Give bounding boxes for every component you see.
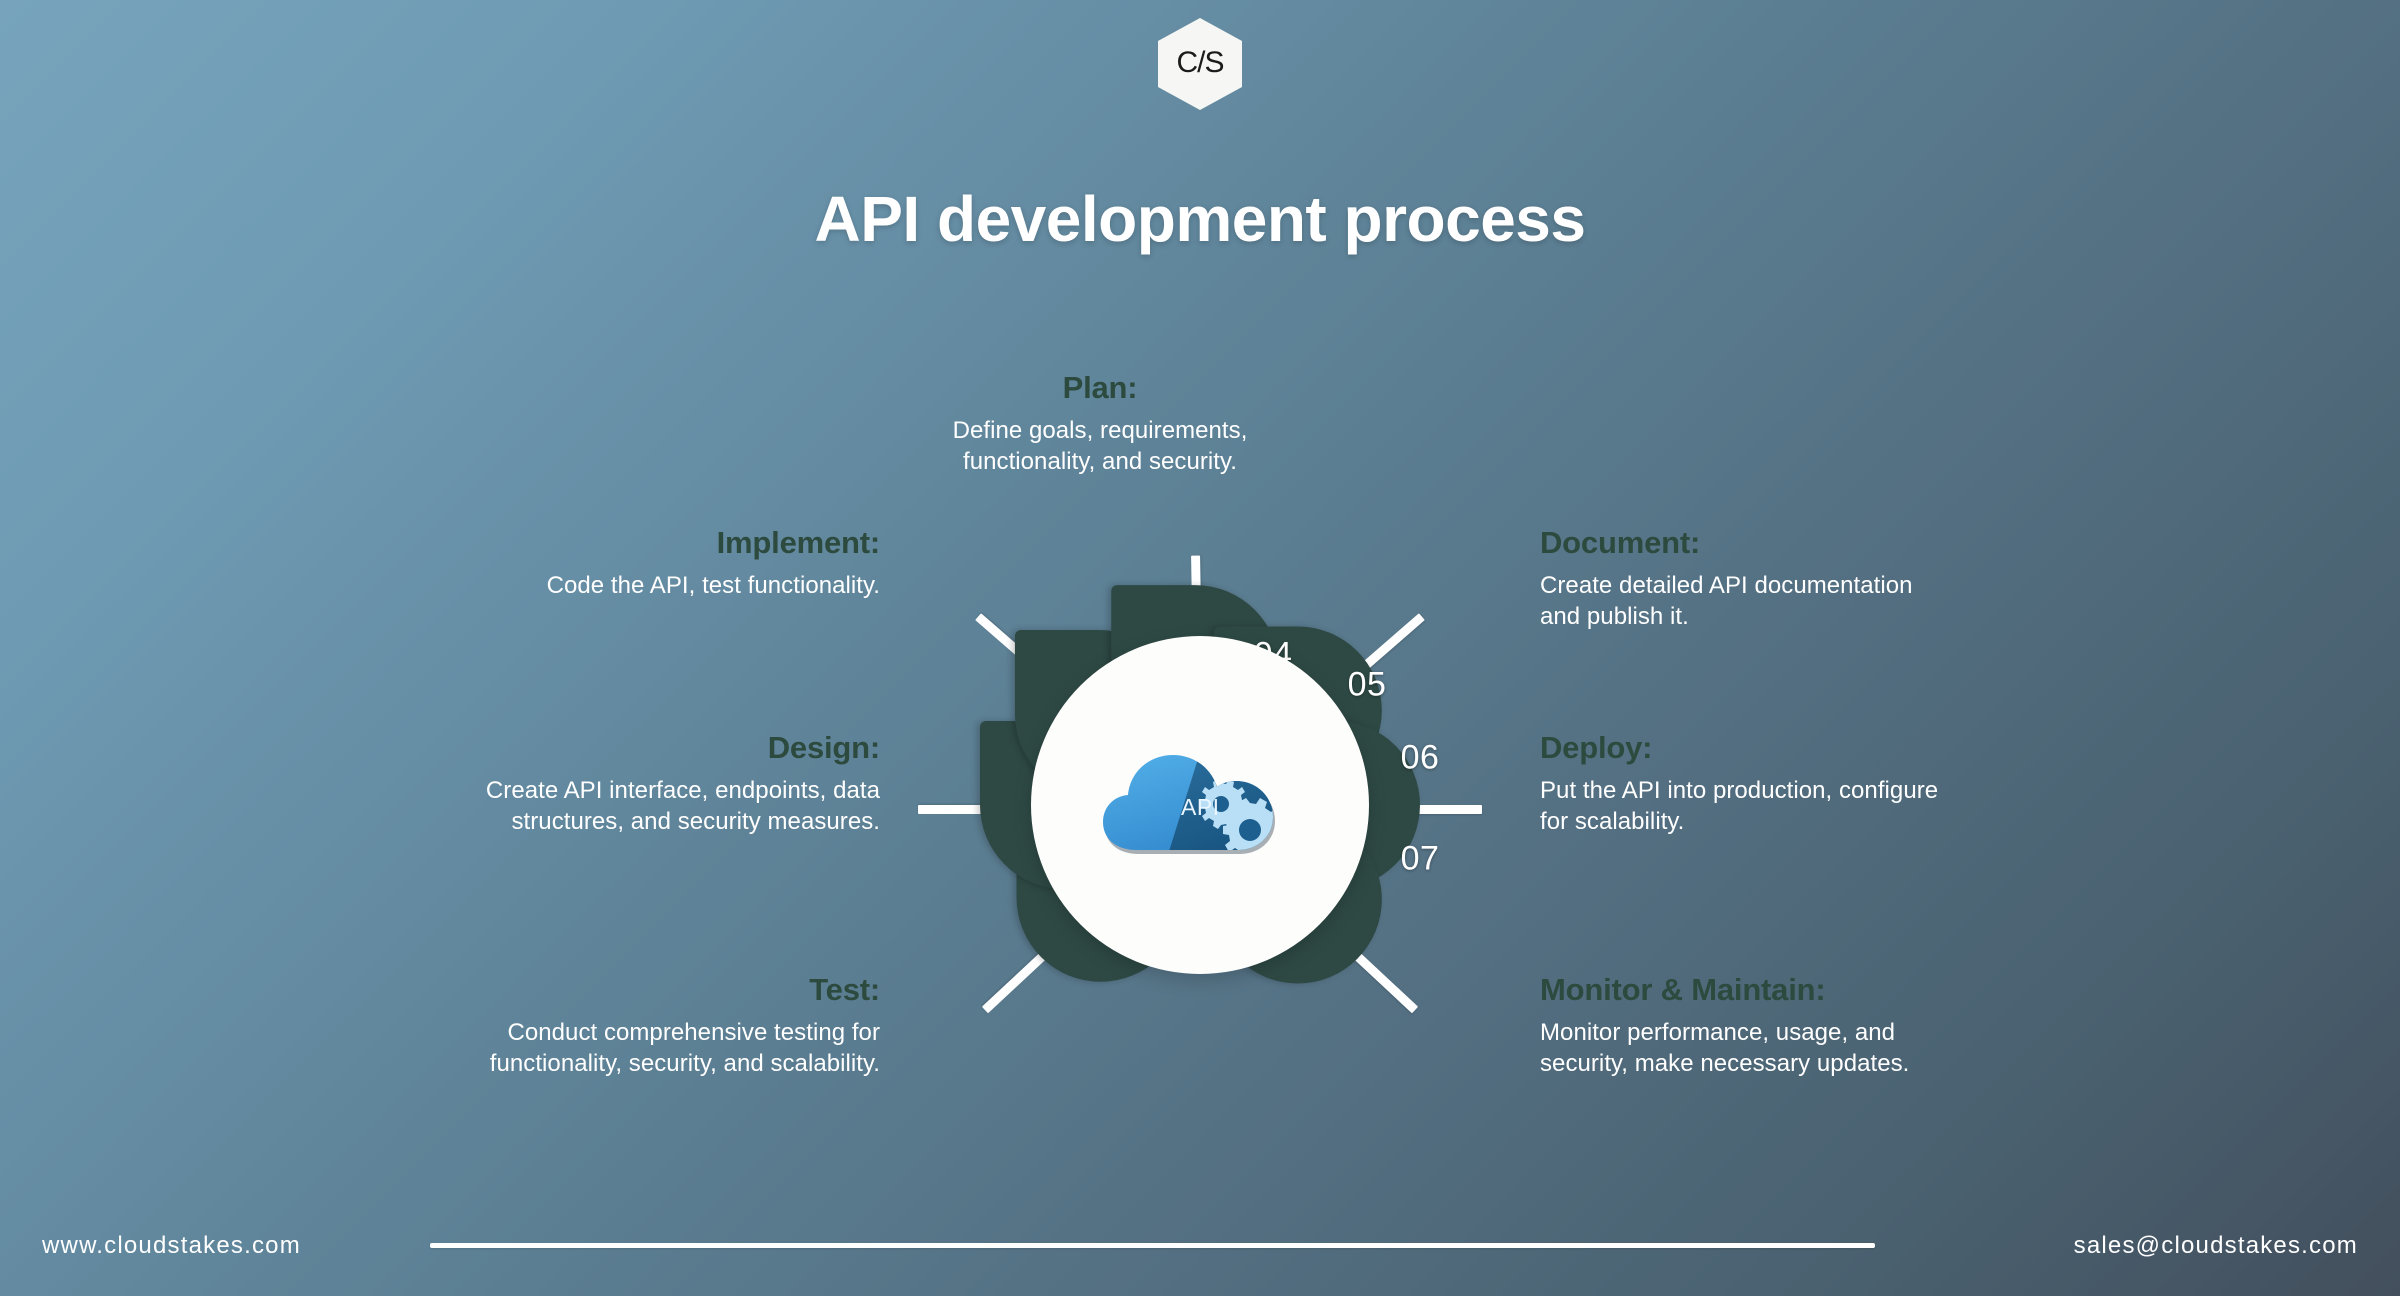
step-heading-monitor-maintain: Monitor & Maintain: xyxy=(1540,972,2180,1008)
step-heading-design: Design: xyxy=(240,730,880,766)
center-disc: API xyxy=(1031,636,1369,974)
step-heading-test: Test: xyxy=(240,972,880,1008)
cloud-api-label: API xyxy=(1181,794,1220,821)
footer-email[interactable]: sales@cloudstakes.com xyxy=(2074,1232,2358,1260)
step-body-design: Create API interface, endpoints, data st… xyxy=(240,775,880,838)
step-body-plan: Define goals, requirements, functionalit… xyxy=(850,415,1350,478)
process-wheel-diagram: 01 02 03 04 05 06 07 xyxy=(910,555,1490,1055)
step-heading-deploy: Deploy: xyxy=(1540,730,2180,766)
step-body-deploy: Put the API into production, configure f… xyxy=(1540,775,2180,838)
step-body-document: Create detailed API documentation and pu… xyxy=(1540,570,2180,633)
step-body-test: Conduct comprehensive testing for functi… xyxy=(240,1017,880,1080)
step-body-implement: Code the API, test functionality. xyxy=(260,570,880,602)
footer-website[interactable]: www.cloudstakes.com xyxy=(42,1232,301,1260)
footer: www.cloudstakes.com sales@cloudstakes.co… xyxy=(0,1176,2400,1296)
step-block-implement: Implement: Code the API, test functional… xyxy=(260,525,880,601)
step-block-document: Document: Create detailed API documentat… xyxy=(1540,525,2180,633)
step-block-monitor-maintain: Monitor & Maintain: Monitor performance,… xyxy=(1540,972,2180,1080)
logo-text: C/S xyxy=(1176,46,1223,80)
footer-divider-line xyxy=(430,1243,1875,1248)
step-heading-implement: Implement: xyxy=(260,525,880,561)
step-body-monitor-maintain: Monitor performance, usage, and security… xyxy=(1540,1017,2180,1080)
hexagon-logo-icon: C/S xyxy=(1158,18,1242,110)
step-block-design: Design: Create API interface, endpoints,… xyxy=(240,730,880,838)
page-title: API development process xyxy=(0,182,2400,256)
step-block-deploy: Deploy: Put the API into production, con… xyxy=(1540,730,2180,838)
step-heading-document: Document: xyxy=(1540,525,2180,561)
step-block-test: Test: Conduct comprehensive testing for … xyxy=(240,972,880,1080)
step-heading-plan: Plan: xyxy=(850,370,1350,406)
step-block-plan: Plan: Define goals, requirements, functi… xyxy=(850,370,1350,478)
cloud-gears-icon: API xyxy=(1097,746,1303,864)
brand-logo: C/S xyxy=(1158,18,1242,110)
